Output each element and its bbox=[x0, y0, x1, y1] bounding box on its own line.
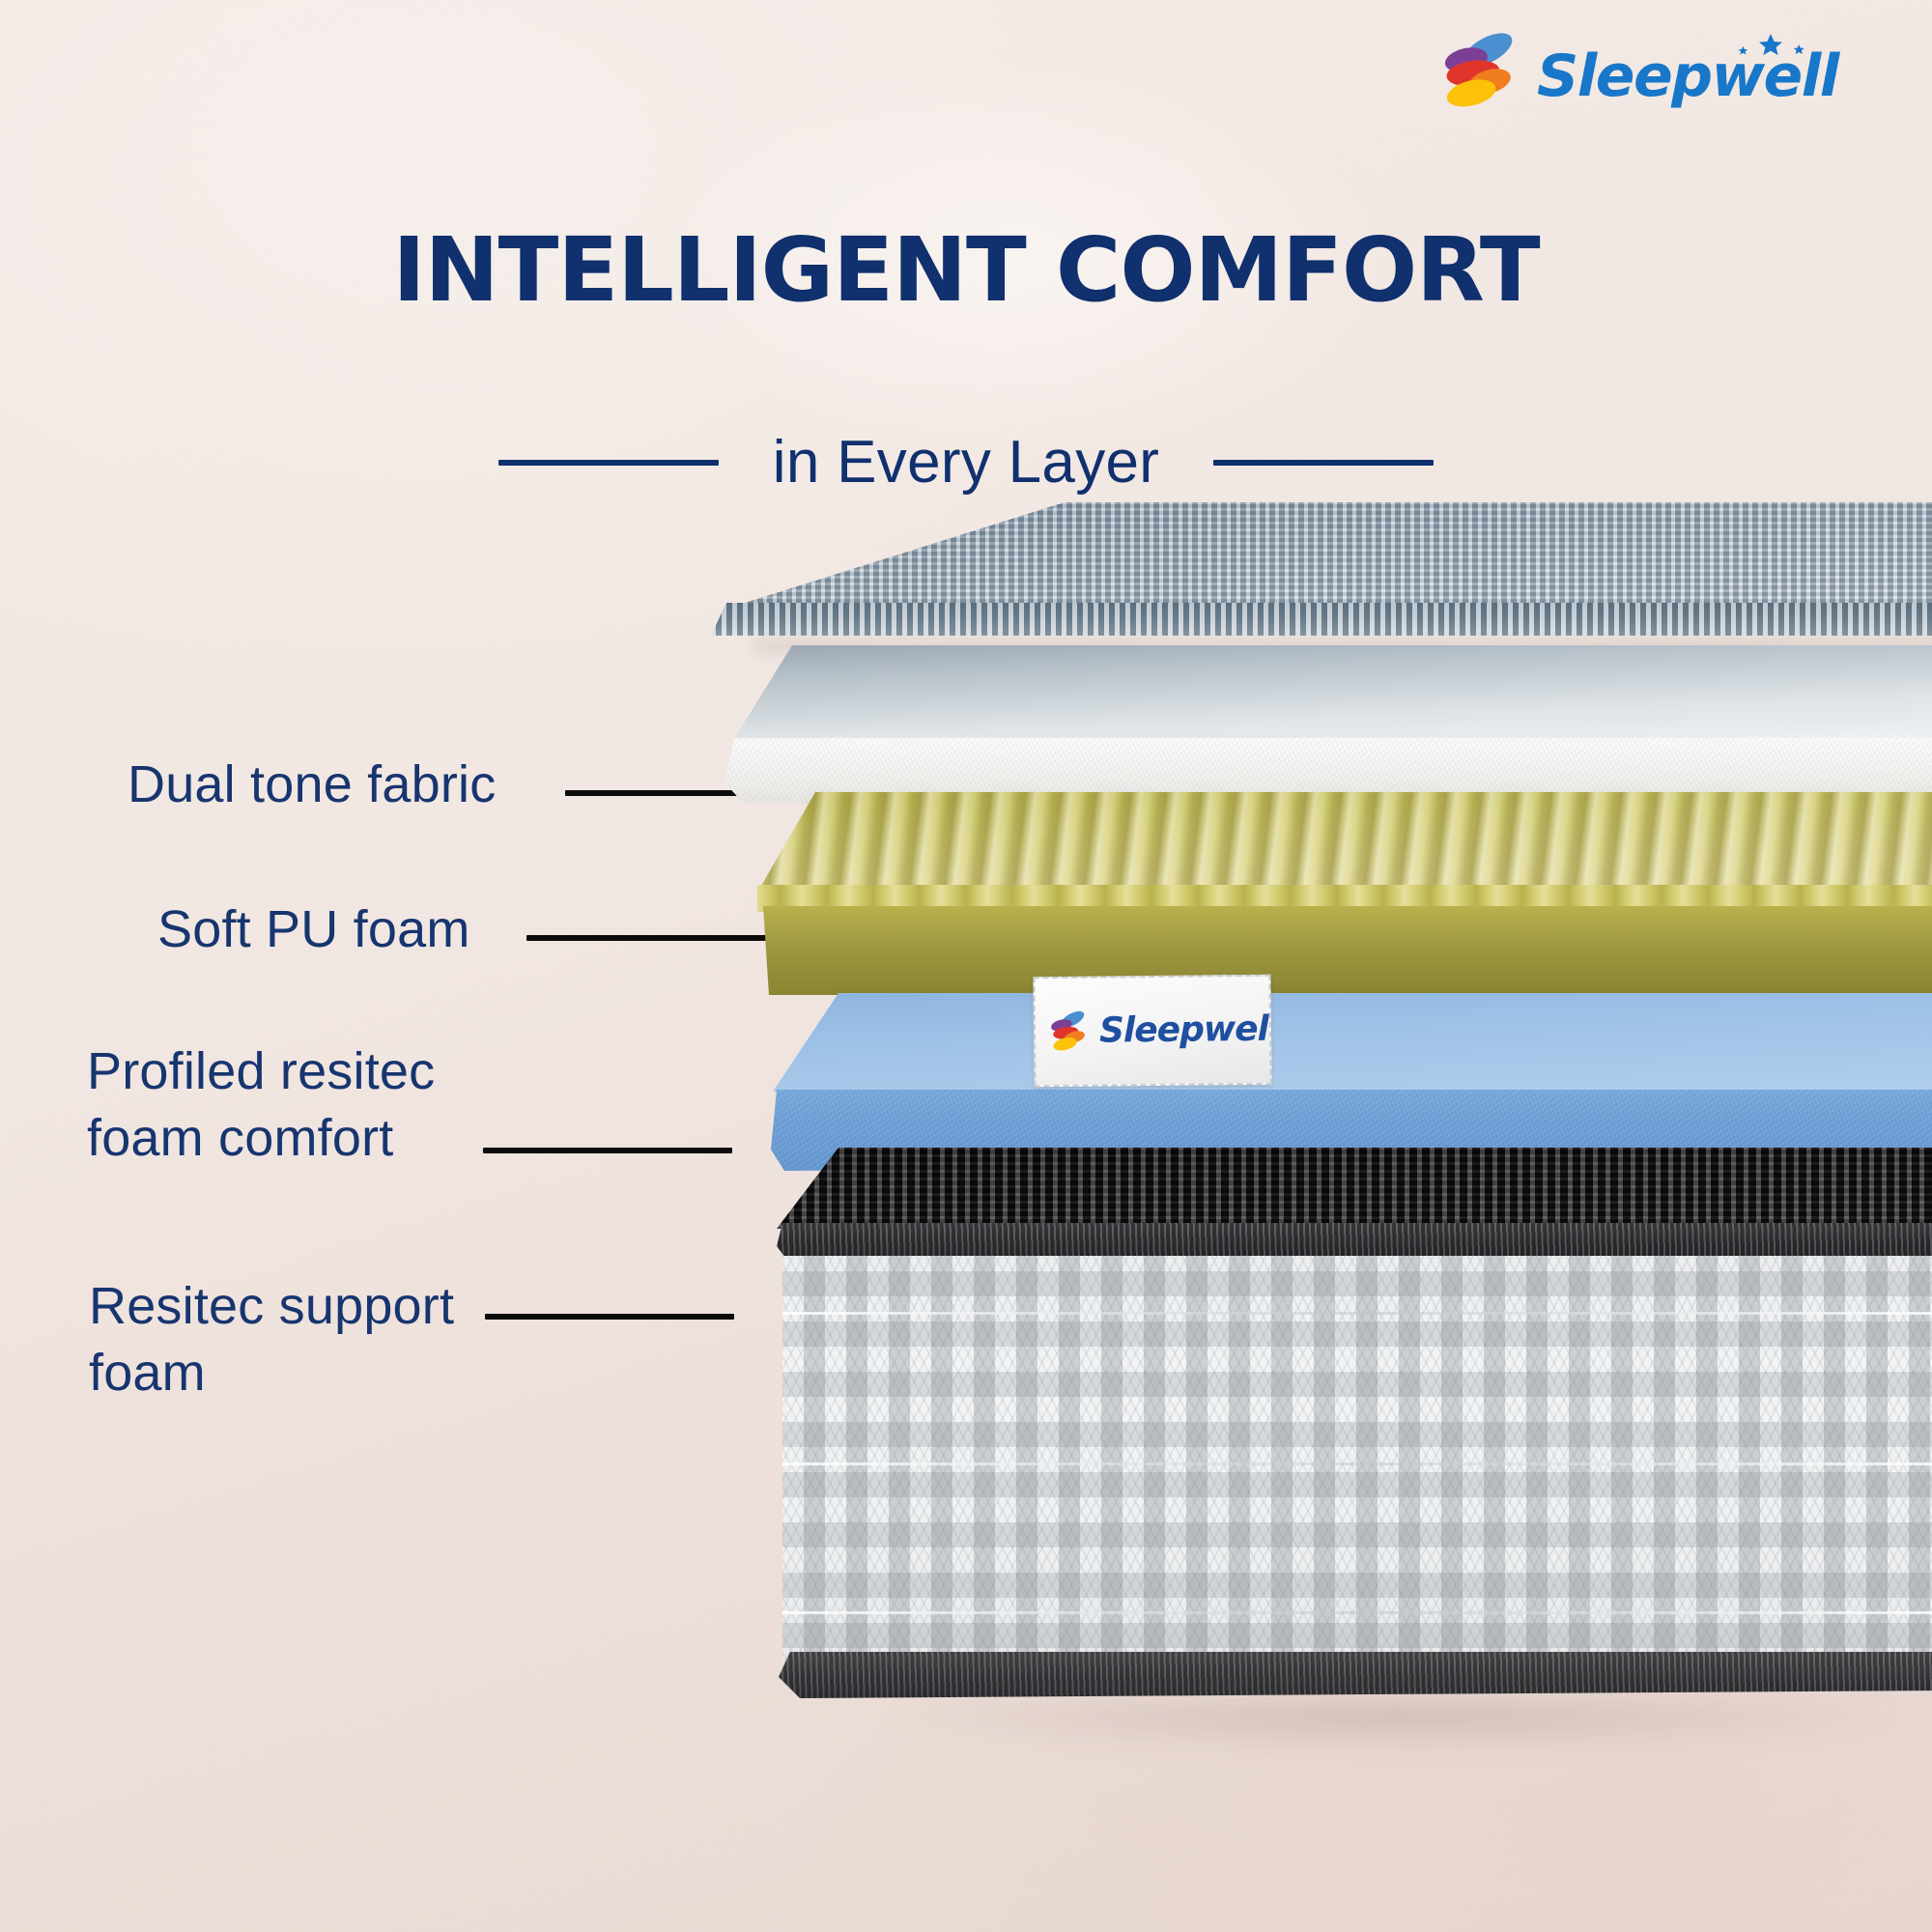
base-bottom-piping bbox=[777, 1652, 1932, 1706]
dual-tone-fabric-edge bbox=[711, 603, 1932, 641]
callout-label-soft-pu-foam: Soft PU foam bbox=[157, 896, 470, 963]
page-title: INTELLIGENT COMFORT bbox=[0, 224, 1932, 318]
mattress-layer-dual-tone-fabric bbox=[686, 502, 1932, 657]
callout-label-resitec-support-foam: Resitec support foam bbox=[89, 1273, 454, 1406]
base-quilt-seam bbox=[782, 1611, 1932, 1614]
sleepwell-tag-wordmark: Sleepwell bbox=[1099, 1012, 1272, 1049]
base-quilt-seam bbox=[782, 1312, 1932, 1315]
sleepwell-fabric-tag: Sleepwell bbox=[1033, 975, 1271, 1088]
callout-label-dual-tone-fabric: Dual tone fabric bbox=[128, 752, 496, 818]
subtitle-rule-left bbox=[498, 460, 719, 466]
profiled-resitec-edge bbox=[755, 906, 1932, 1003]
mattress-layer-base-cover bbox=[777, 1148, 1932, 1727]
base-side-panel bbox=[782, 1256, 1932, 1673]
poster-canvas: Sleepwell INTELLIGENT COMFORT in Every L… bbox=[0, 0, 1932, 1932]
mattress-layer-profiled-resitec-foam bbox=[755, 792, 1932, 1014]
sleepwell-s-swirl-icon bbox=[1047, 1006, 1091, 1058]
base-quilt-seam bbox=[782, 1463, 1932, 1465]
mattress-floor-shadow bbox=[734, 1700, 1932, 1758]
mattress-layer-stack bbox=[676, 502, 1932, 1719]
soft-pu-foam-top-surface bbox=[723, 645, 1932, 753]
callout-label-profiled-resitec-foam: Profiled resitec foam comfort bbox=[87, 1038, 435, 1172]
subtitle-row: in Every Layer bbox=[0, 433, 1932, 493]
mattress-layer-soft-pu-foam bbox=[723, 645, 1932, 814]
sleepwell-logo: Sleepwell bbox=[1436, 27, 1852, 116]
page-subtitle: in Every Layer bbox=[773, 433, 1159, 493]
sleepwell-wordmark: Sleepwell bbox=[1537, 47, 1838, 105]
sleepwell-s-swirl-icon bbox=[1436, 30, 1520, 113]
subtitle-rule-right bbox=[1213, 460, 1434, 466]
